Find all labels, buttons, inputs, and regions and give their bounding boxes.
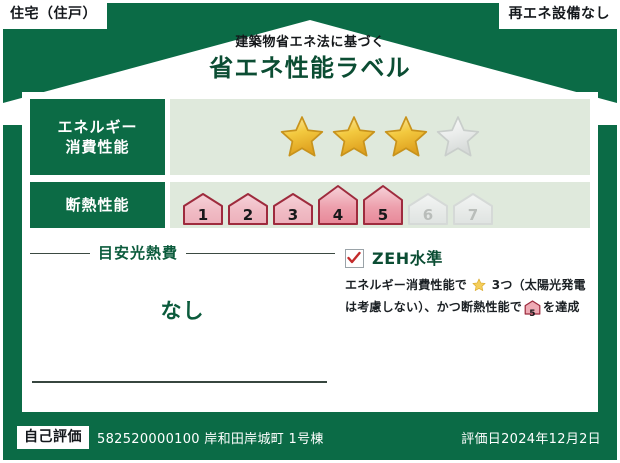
insulation-scale: 1234567	[182, 184, 494, 226]
heading-rule-left	[30, 253, 90, 254]
energy-cost-heading-text: 目安光熱費	[98, 246, 178, 261]
insulation-level-number: 2	[227, 208, 269, 223]
insulation-level-6: 6	[407, 192, 449, 226]
insulation-label-text: 断熱性能	[65, 195, 129, 215]
zeh-checkbox[interactable]	[345, 249, 364, 268]
energy-performance-row: エネルギー 消費性能	[30, 99, 590, 175]
insulation-level-number: 3	[272, 208, 314, 223]
zeh-desc-part1: エネルギー消費性能で	[345, 278, 467, 292]
page-title: 省エネ性能ラベル	[0, 56, 620, 80]
insulation-level-7: 7	[452, 192, 494, 226]
insulation-level-2: 2	[227, 192, 269, 226]
zeh-description: エネルギー消費性能で 3つ（太陽光発電 は考慮しない）、かつ断熱性能で 5 を達…	[345, 276, 590, 320]
insulation-level-number: 1	[182, 208, 224, 223]
inline-house-badge: 5	[524, 300, 541, 321]
footer-evaluation-date: 評価日2024年12月2日	[461, 428, 601, 447]
energy-label-line1: エネルギー	[57, 117, 137, 137]
insulation-level-3: 3	[272, 192, 314, 226]
star-rating	[279, 114, 481, 160]
star-empty-icon	[435, 114, 481, 160]
label-title-block: 建築物省エネ法に基づく 省エネ性能ラベル	[0, 36, 620, 80]
zeh-desc-part2: は考慮しない）、かつ断熱性能で	[345, 300, 522, 314]
insulation-level-number: 7	[452, 208, 494, 223]
badge-renewable-energy: 再エネ設備なし	[499, 0, 620, 29]
insulation-level-5: 5	[362, 184, 404, 226]
label-lower-section: 目安光熱費 なし ZEH水準 エネルギー消費性能で	[30, 237, 590, 405]
energy-cost-section: 目安光熱費 なし	[30, 237, 335, 405]
title-subtitle: 建築物省エネ法に基づく	[0, 36, 620, 49]
zeh-section: ZEH水準 エネルギー消費性能で 3つ（太陽光発電 は考慮しない）、かつ断熱性能…	[335, 237, 590, 405]
energy-cost-value: なし	[30, 295, 335, 325]
energy-performance-value	[170, 99, 590, 175]
star-filled-icon	[331, 114, 377, 160]
insulation-level-1: 1	[182, 192, 224, 226]
energy-label-line2: 消費性能	[65, 137, 129, 157]
insulation-level-number: 4	[317, 208, 359, 223]
insulation-level-number: 6	[407, 208, 449, 223]
badge-building-type: 住宅（住戸）	[0, 0, 107, 29]
energy-cost-heading: 目安光熱費	[30, 246, 335, 261]
energy-performance-label: 住宅（住戸） 再エネ設備なし 建築物省エネ法に基づく 省エネ性能ラベル エネルギ…	[0, 0, 620, 463]
inline-house-number: 5	[524, 310, 541, 319]
star-filled-icon	[279, 114, 325, 160]
insulation-performance-row: 断熱性能 1234567	[30, 182, 590, 228]
zeh-title: ZEH水準	[372, 251, 443, 267]
label-body-panel: エネルギー 消費性能 断熱性能 1234567 目安光熱費	[22, 92, 598, 412]
insulation-performance-value: 1234567	[170, 182, 590, 228]
check-icon	[347, 251, 361, 265]
footer-id-address: 582520000100 岸和田岸城町 1号棟	[97, 428, 324, 447]
insulation-level-number: 5	[362, 208, 404, 223]
insulation-level-4: 4	[317, 184, 359, 226]
energy-cost-bottom-rule	[32, 381, 327, 383]
zeh-desc-star-count: 3つ（太陽光発電	[492, 278, 586, 292]
zeh-desc-part3: を達成	[543, 300, 580, 314]
inline-star-icon	[468, 281, 491, 295]
insulation-performance-label: 断熱性能	[30, 182, 165, 228]
energy-performance-label: エネルギー 消費性能	[30, 99, 165, 175]
evaluation-type-badge: 自己評価	[17, 426, 89, 449]
heading-rule-right	[186, 253, 335, 254]
star-filled-icon	[383, 114, 429, 160]
label-footer: 自己評価 582520000100 岸和田岸城町 1号棟 評価日2024年12月…	[3, 414, 617, 460]
zeh-heading: ZEH水準	[345, 249, 590, 268]
